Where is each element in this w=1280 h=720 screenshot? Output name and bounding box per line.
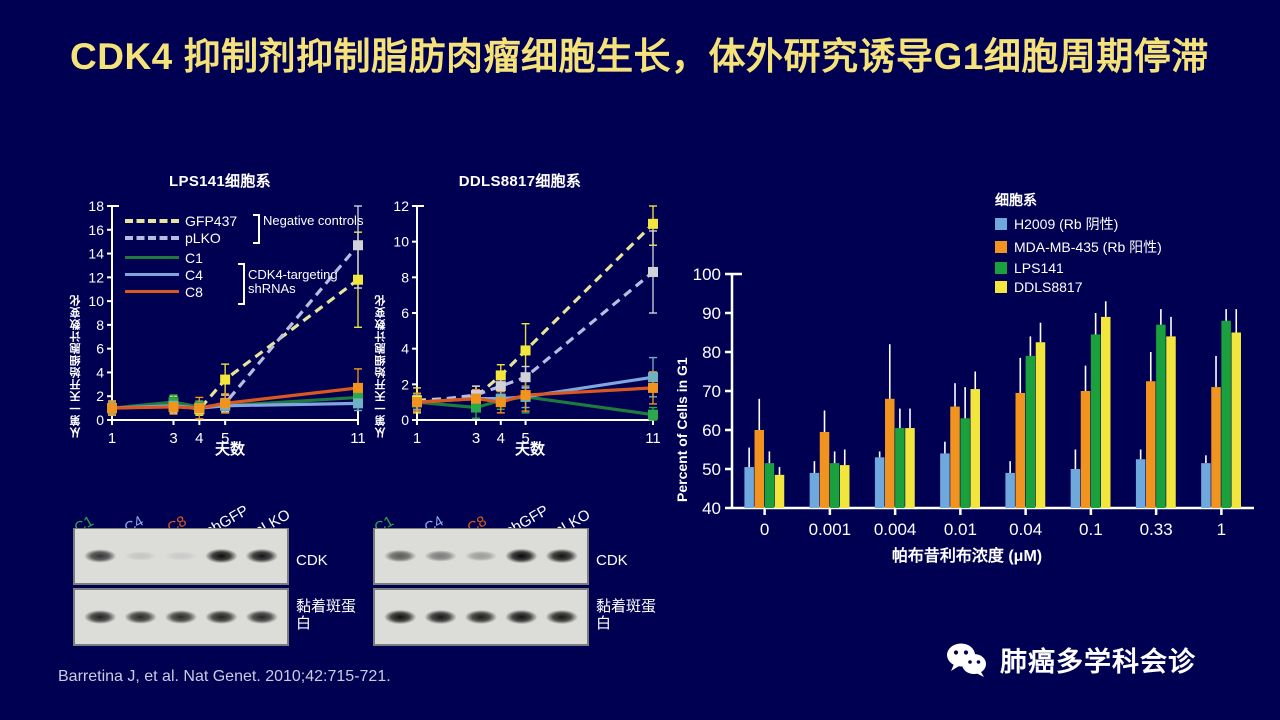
- bar-legend-label-ddls8817: DDLS8817: [1014, 279, 1083, 295]
- svg-text:6: 6: [96, 341, 104, 357]
- svg-text:18: 18: [88, 198, 104, 214]
- svg-text:12: 12: [88, 269, 104, 285]
- brace-negative-controls: [253, 214, 260, 244]
- svg-text:0.04: 0.04: [1009, 520, 1042, 539]
- legend-item-c8: C8: [125, 283, 237, 300]
- svg-text:100: 100: [693, 265, 721, 284]
- line-chart-ddls8817: DDLS8817细胞系 从第一天开始细胞计数变化 024681012134511…: [375, 170, 665, 460]
- svg-text:6: 6: [401, 305, 409, 321]
- legend-swatch-c8: [125, 290, 179, 293]
- blot1-row-label-vinculin: 黏着斑蛋白: [596, 598, 656, 633]
- legend-swatch-plko: [125, 236, 179, 240]
- chart-title-lps141: LPS141细胞系: [70, 170, 370, 191]
- legend-item-c1: C1: [125, 249, 237, 266]
- bar-legend-item-ddls8817: DDLS8817: [995, 279, 1162, 295]
- watermark: 肺癌多学科会诊: [945, 640, 1196, 679]
- blot1-row-label-cdk: CDK: [596, 552, 628, 569]
- svg-text:0: 0: [96, 412, 104, 428]
- svg-text:0.01: 0.01: [944, 520, 977, 539]
- legend-swatch-gfp437: [125, 219, 179, 223]
- bar-x-axis-label: 帕布昔利布浓度 (μM): [732, 542, 1202, 566]
- legend-swatch-c4: [125, 273, 179, 276]
- legend-item-plko: pLKO: [125, 229, 237, 246]
- page-title: CDK4 抑制剂抑制脂肪肉瘤细胞生长，体外研究诱导G1细胞周期停滞: [70, 33, 1220, 82]
- bar-chart-g1: Percent of Cells in G1 40506070809010000…: [672, 250, 1262, 580]
- svg-text:0: 0: [401, 412, 409, 428]
- chart-title-ddls8817: DDLS8817细胞系: [375, 170, 665, 191]
- label-shrnas: CDK4-targeting shRNAs: [248, 268, 358, 297]
- x-axis-label-lps141: 天数: [110, 438, 350, 459]
- svg-text:10: 10: [88, 293, 104, 309]
- blot0-row-label-vinculin: 黏着斑蛋白: [296, 598, 356, 633]
- line-chart-legend: GFP437 pLKO C1 C4 C8: [125, 212, 237, 300]
- svg-text:0.004: 0.004: [874, 520, 917, 539]
- svg-text:0.1: 0.1: [1079, 520, 1103, 539]
- svg-text:2: 2: [96, 388, 104, 404]
- bar-legend-label-h2009: H2009 (Rb 阴性): [1014, 214, 1118, 234]
- svg-text:10: 10: [393, 234, 409, 250]
- legend-swatch-c1: [125, 256, 179, 259]
- negative-controls-text: Negative controls: [263, 213, 363, 228]
- legend-item-c4: C4: [125, 266, 237, 283]
- blot0-row-label-cdk: CDK: [296, 552, 328, 569]
- bar-chart-legend: 细胞系 H2009 (Rb 阴性) MDA-MB-435 (Rb 阳性) LPS…: [995, 190, 1162, 298]
- western-blot-lps141: C1 C4 C8 shGFP pLKO CDK 黏着斑蛋白: [68, 480, 368, 650]
- svg-text:4: 4: [96, 364, 104, 380]
- bar-legend-swatch-mdamb435: [995, 241, 1007, 253]
- blot1-image: [373, 528, 589, 648]
- blot0-image: [73, 528, 289, 648]
- slide-root: CDK4 抑制剂抑制脂肪肉瘤细胞生长，体外研究诱导G1细胞周期停滞 LPS141…: [0, 0, 1280, 720]
- svg-text:40: 40: [702, 499, 721, 518]
- svg-text:0.33: 0.33: [1140, 520, 1173, 539]
- svg-text:90: 90: [702, 304, 721, 323]
- wechat-icon: [945, 642, 991, 678]
- bar-legend-swatch-lps141: [995, 262, 1007, 274]
- bar-legend-item-mdamb435: MDA-MB-435 (Rb 阳性): [995, 237, 1162, 257]
- svg-text:4: 4: [401, 341, 409, 357]
- legend-label-c4: C4: [185, 267, 203, 283]
- watermark-text: 肺癌多学科会诊: [1000, 640, 1196, 679]
- svg-text:80: 80: [702, 343, 721, 362]
- svg-text:70: 70: [702, 382, 721, 401]
- svg-text:1: 1: [1217, 520, 1226, 539]
- svg-text:12: 12: [393, 198, 409, 214]
- svg-text:16: 16: [88, 222, 104, 238]
- bar-legend-item-lps141: LPS141: [995, 260, 1162, 276]
- label-negative-controls: Negative controls: [263, 214, 363, 228]
- bar-legend-swatch-ddls8817: [995, 281, 1007, 293]
- svg-text:50: 50: [702, 460, 721, 479]
- svg-text:11: 11: [350, 430, 366, 447]
- citation: Barretina J, et al. Nat Genet. 2010;42:7…: [58, 668, 391, 686]
- bar-legend-swatch-h2009: [995, 218, 1007, 230]
- line-plot-ddls8817: 024681012134511: [375, 194, 665, 456]
- svg-text:0: 0: [760, 520, 769, 539]
- svg-text:8: 8: [96, 317, 104, 333]
- bar-legend-label-mdamb435: MDA-MB-435 (Rb 阳性): [1014, 237, 1162, 257]
- shrnas-text: CDK4-targeting shRNAs: [248, 267, 338, 296]
- legend-label-c1: C1: [185, 250, 203, 266]
- bar-legend-title: 细胞系: [995, 190, 1162, 210]
- brace-shrnas: [238, 263, 245, 305]
- legend-label-plko: pLKO: [185, 230, 221, 246]
- svg-text:2: 2: [401, 376, 409, 392]
- svg-text:60: 60: [702, 421, 721, 440]
- bar-legend-label-lps141: LPS141: [1014, 260, 1064, 276]
- bar-legend-item-h2009: H2009 (Rb 阴性): [995, 214, 1162, 234]
- legend-label-c8: C8: [185, 284, 203, 300]
- svg-text:14: 14: [88, 246, 104, 262]
- svg-text:8: 8: [401, 269, 409, 285]
- x-axis-label-ddls8817: 天数: [410, 438, 650, 459]
- western-blot-ddls8817: C1 C4 C8 shGFP pLKO CDK 黏着斑蛋白: [368, 480, 668, 650]
- legend-label-gfp437: GFP437: [185, 213, 237, 229]
- svg-text:0.001: 0.001: [809, 520, 852, 539]
- bar-plot: 40506070809010000.0010.0040.010.040.10.3…: [672, 264, 1262, 554]
- legend-item-gfp437: GFP437: [125, 212, 237, 229]
